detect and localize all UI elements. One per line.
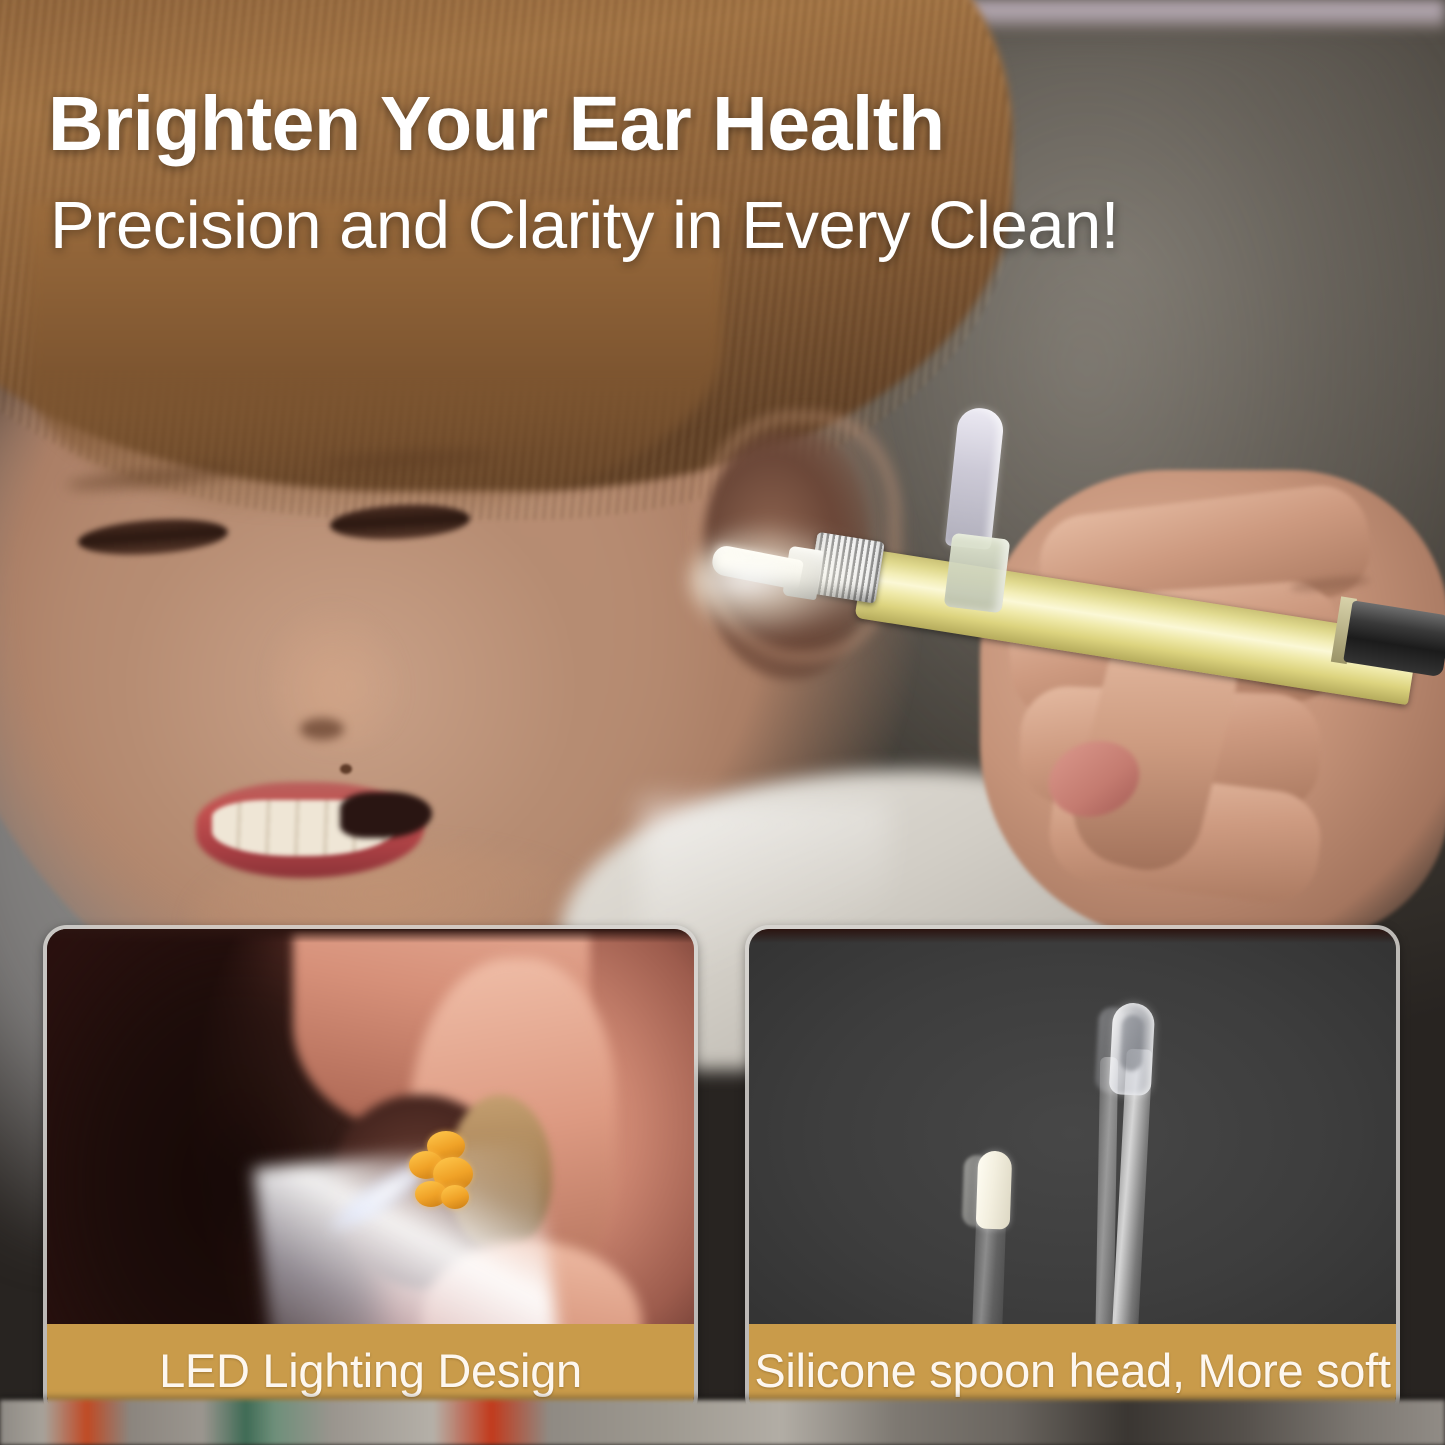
clear-spoon-head-hollow xyxy=(1120,1014,1145,1071)
panel-top-vignette xyxy=(47,929,694,943)
feature-panel-led-lighting: LED Lighting Design xyxy=(43,925,698,1420)
feature-panel-silicone-spoon: Silicone spoon head, More soft xyxy=(745,925,1400,1420)
page-title: Brighten Your Ear Health xyxy=(48,86,944,163)
caption-label: LED Lighting Design xyxy=(159,1343,582,1398)
silicone-spoon-head xyxy=(976,1150,1013,1229)
cheek-mole xyxy=(340,764,352,774)
spare-tip-base xyxy=(944,533,1011,614)
page-subtitle: Precision and Clarity in Every Clean! xyxy=(50,192,1119,259)
product-marketing-image: Brighten Your Ear Health Precision and C… xyxy=(0,0,1445,1445)
caption-label: Silicone spoon head, More soft xyxy=(754,1343,1390,1398)
panel-top-vignette xyxy=(749,929,1396,943)
nostril xyxy=(300,718,344,740)
blurred-background-strip xyxy=(0,1400,1445,1445)
led-glow xyxy=(690,520,880,640)
earwax-cluster xyxy=(403,1129,493,1219)
